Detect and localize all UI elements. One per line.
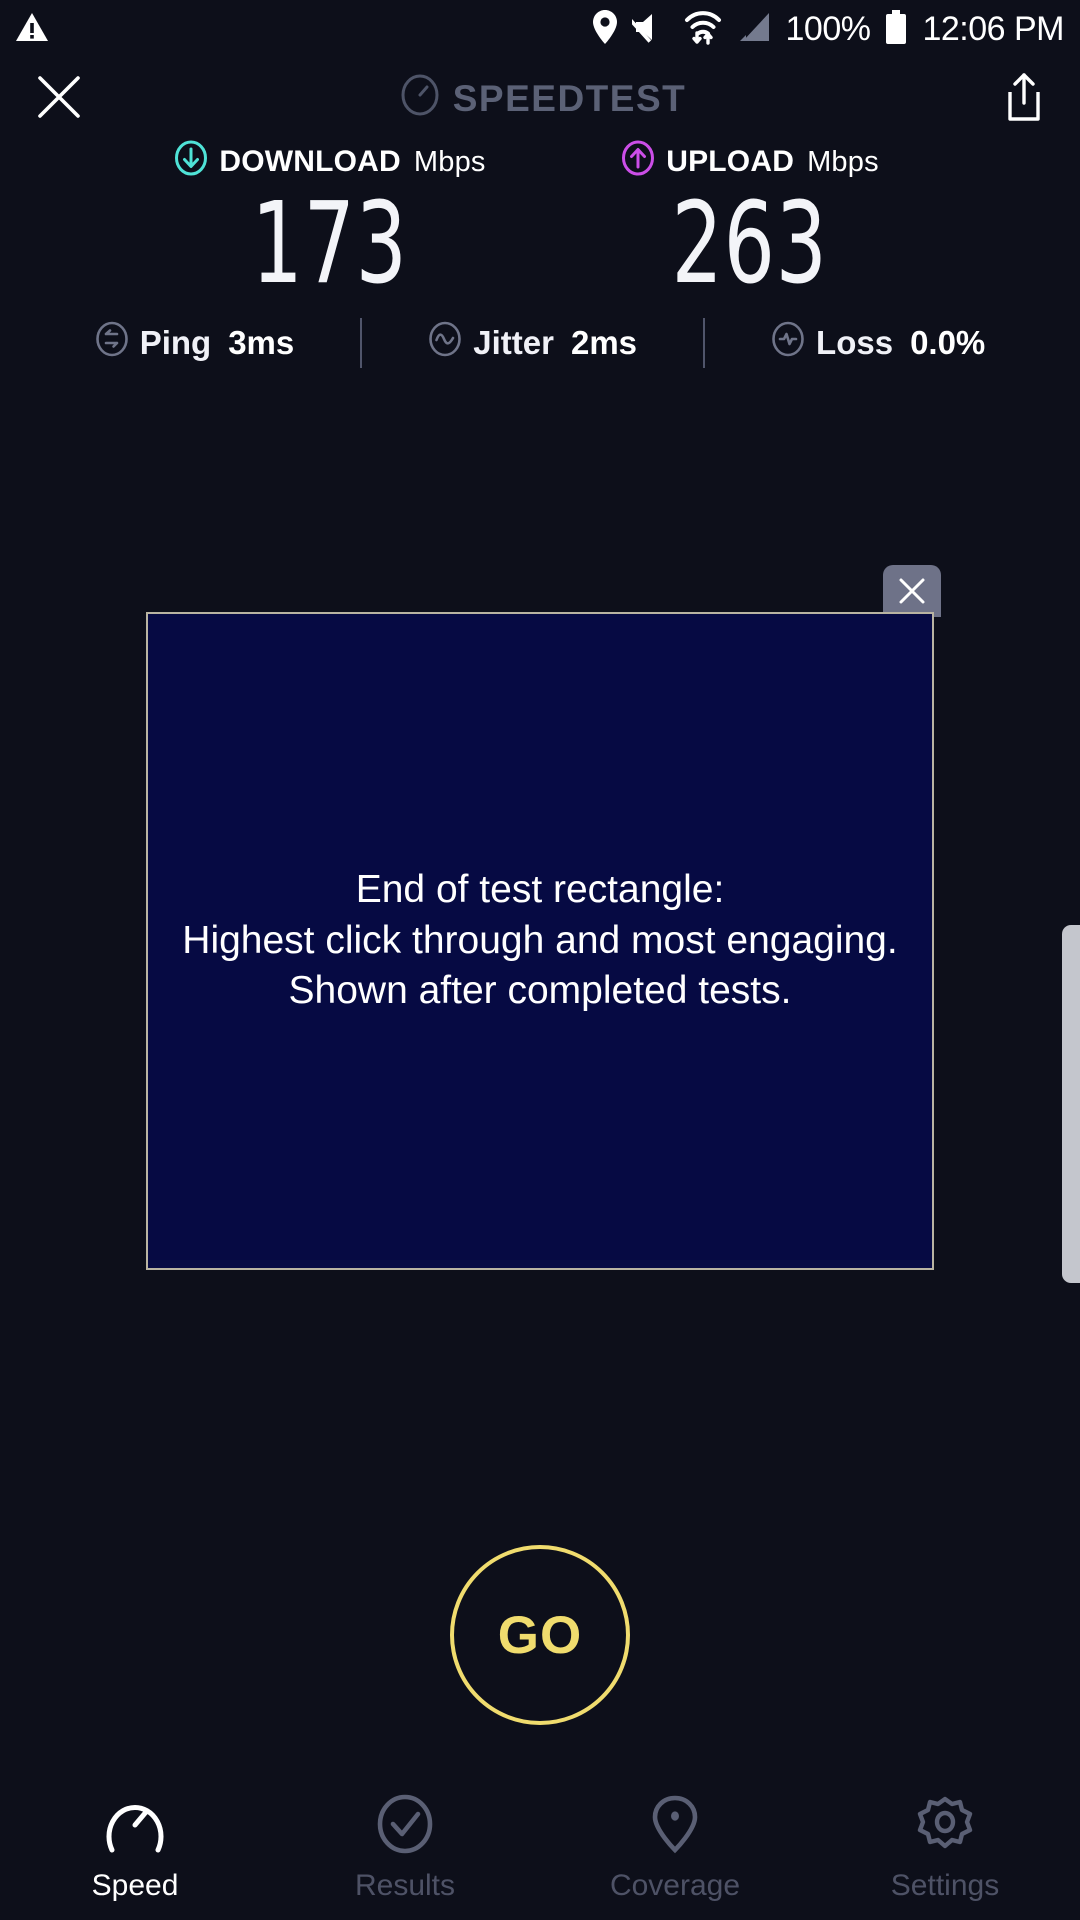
download-unit: Mbps [414, 146, 486, 179]
battery-percent-label: 100% [786, 12, 871, 46]
network-stats-row: Ping 3ms Jitter 2ms [0, 318, 1080, 368]
ad-line: End of test rectangle: [158, 865, 922, 916]
loss-icon [771, 321, 805, 365]
stat-divider [360, 318, 362, 368]
status-bar-right: 100% 12:06 PM [592, 9, 1065, 50]
location-pin-icon [592, 9, 618, 50]
speedometer-icon [400, 74, 440, 125]
clock-label: 12:06 PM [922, 12, 1064, 46]
upload-label: UPLOAD [666, 145, 794, 179]
speed-row: DOWNLOAD Mbps 173 UPLOAD Mbps 263 [0, 140, 1080, 300]
jitter-icon [428, 321, 462, 365]
loss-value: 0.0% [910, 324, 985, 362]
app-header: SPEEDTEST [0, 58, 1080, 140]
go-button-label: GO [498, 1605, 582, 1666]
bottom-navigation: Speed Results Coverage [0, 1780, 1080, 1920]
jitter-label: Jitter [473, 324, 554, 362]
warning-triangle-icon [14, 10, 50, 49]
ad-close-button[interactable] [883, 565, 941, 617]
brand: SPEEDTEST [400, 74, 687, 125]
location-pin-icon [644, 1794, 706, 1859]
jitter-value: 2ms [571, 324, 637, 362]
ping-icon [95, 321, 129, 365]
download-value: 173 [252, 190, 408, 300]
nav-item-settings[interactable]: Settings [810, 1780, 1080, 1920]
nav-item-results[interactable]: Results [270, 1780, 540, 1920]
download-arrow-icon [174, 140, 208, 184]
go-button[interactable]: GO [450, 1545, 630, 1725]
ping-stat: Ping 3ms [95, 321, 295, 365]
gear-icon [914, 1794, 976, 1859]
ad-line: Shown after completed tests. [158, 966, 922, 1017]
download-header: DOWNLOAD Mbps [174, 140, 485, 184]
loss-label: Loss [816, 324, 893, 362]
download-label: DOWNLOAD [219, 145, 401, 179]
upload-metric: UPLOAD Mbps 263 [540, 140, 960, 300]
close-icon [895, 574, 929, 608]
stat-divider [703, 318, 705, 368]
scrollbar-thumb[interactable] [1062, 925, 1080, 1283]
nav-label-speed: Speed [92, 1869, 179, 1903]
nav-label-settings: Settings [891, 1869, 999, 1903]
nav-label-results: Results [355, 1869, 455, 1903]
share-icon[interactable] [1002, 71, 1046, 128]
upload-value: 263 [672, 190, 828, 300]
metrics-panel: DOWNLOAD Mbps 173 UPLOAD Mbps 263 [0, 140, 1080, 368]
brand-title: SPEEDTEST [453, 78, 687, 120]
upload-arrow-icon [621, 140, 655, 184]
nav-item-speed[interactable]: Speed [0, 1780, 270, 1920]
ping-label: Ping [140, 324, 212, 362]
upload-unit: Mbps [807, 146, 879, 179]
nav-item-coverage[interactable]: Coverage [540, 1780, 810, 1920]
advertisement-banner[interactable]: End of test rectangle: Highest click thr… [146, 612, 934, 1270]
battery-full-icon [884, 9, 908, 50]
ping-value: 3ms [228, 324, 294, 362]
ad-text: End of test rectangle: Highest click thr… [148, 865, 932, 1017]
loss-stat: Loss 0.0% [771, 321, 985, 365]
speedometer-icon [104, 1794, 166, 1859]
ad-line: Highest click through and most engaging. [158, 916, 922, 967]
status-bar: 100% 12:06 PM [0, 0, 1080, 58]
jitter-stat: Jitter 2ms [428, 321, 637, 365]
close-icon[interactable] [34, 72, 84, 127]
cellular-signal-icon [736, 10, 772, 49]
upload-header: UPLOAD Mbps [621, 140, 879, 184]
volume-muted-icon [632, 10, 670, 49]
nav-label-coverage: Coverage [610, 1869, 740, 1903]
status-bar-left [14, 10, 50, 49]
download-metric: DOWNLOAD Mbps 173 [120, 140, 540, 300]
check-circle-icon [374, 1794, 436, 1859]
wifi-transfer-icon [684, 9, 722, 50]
